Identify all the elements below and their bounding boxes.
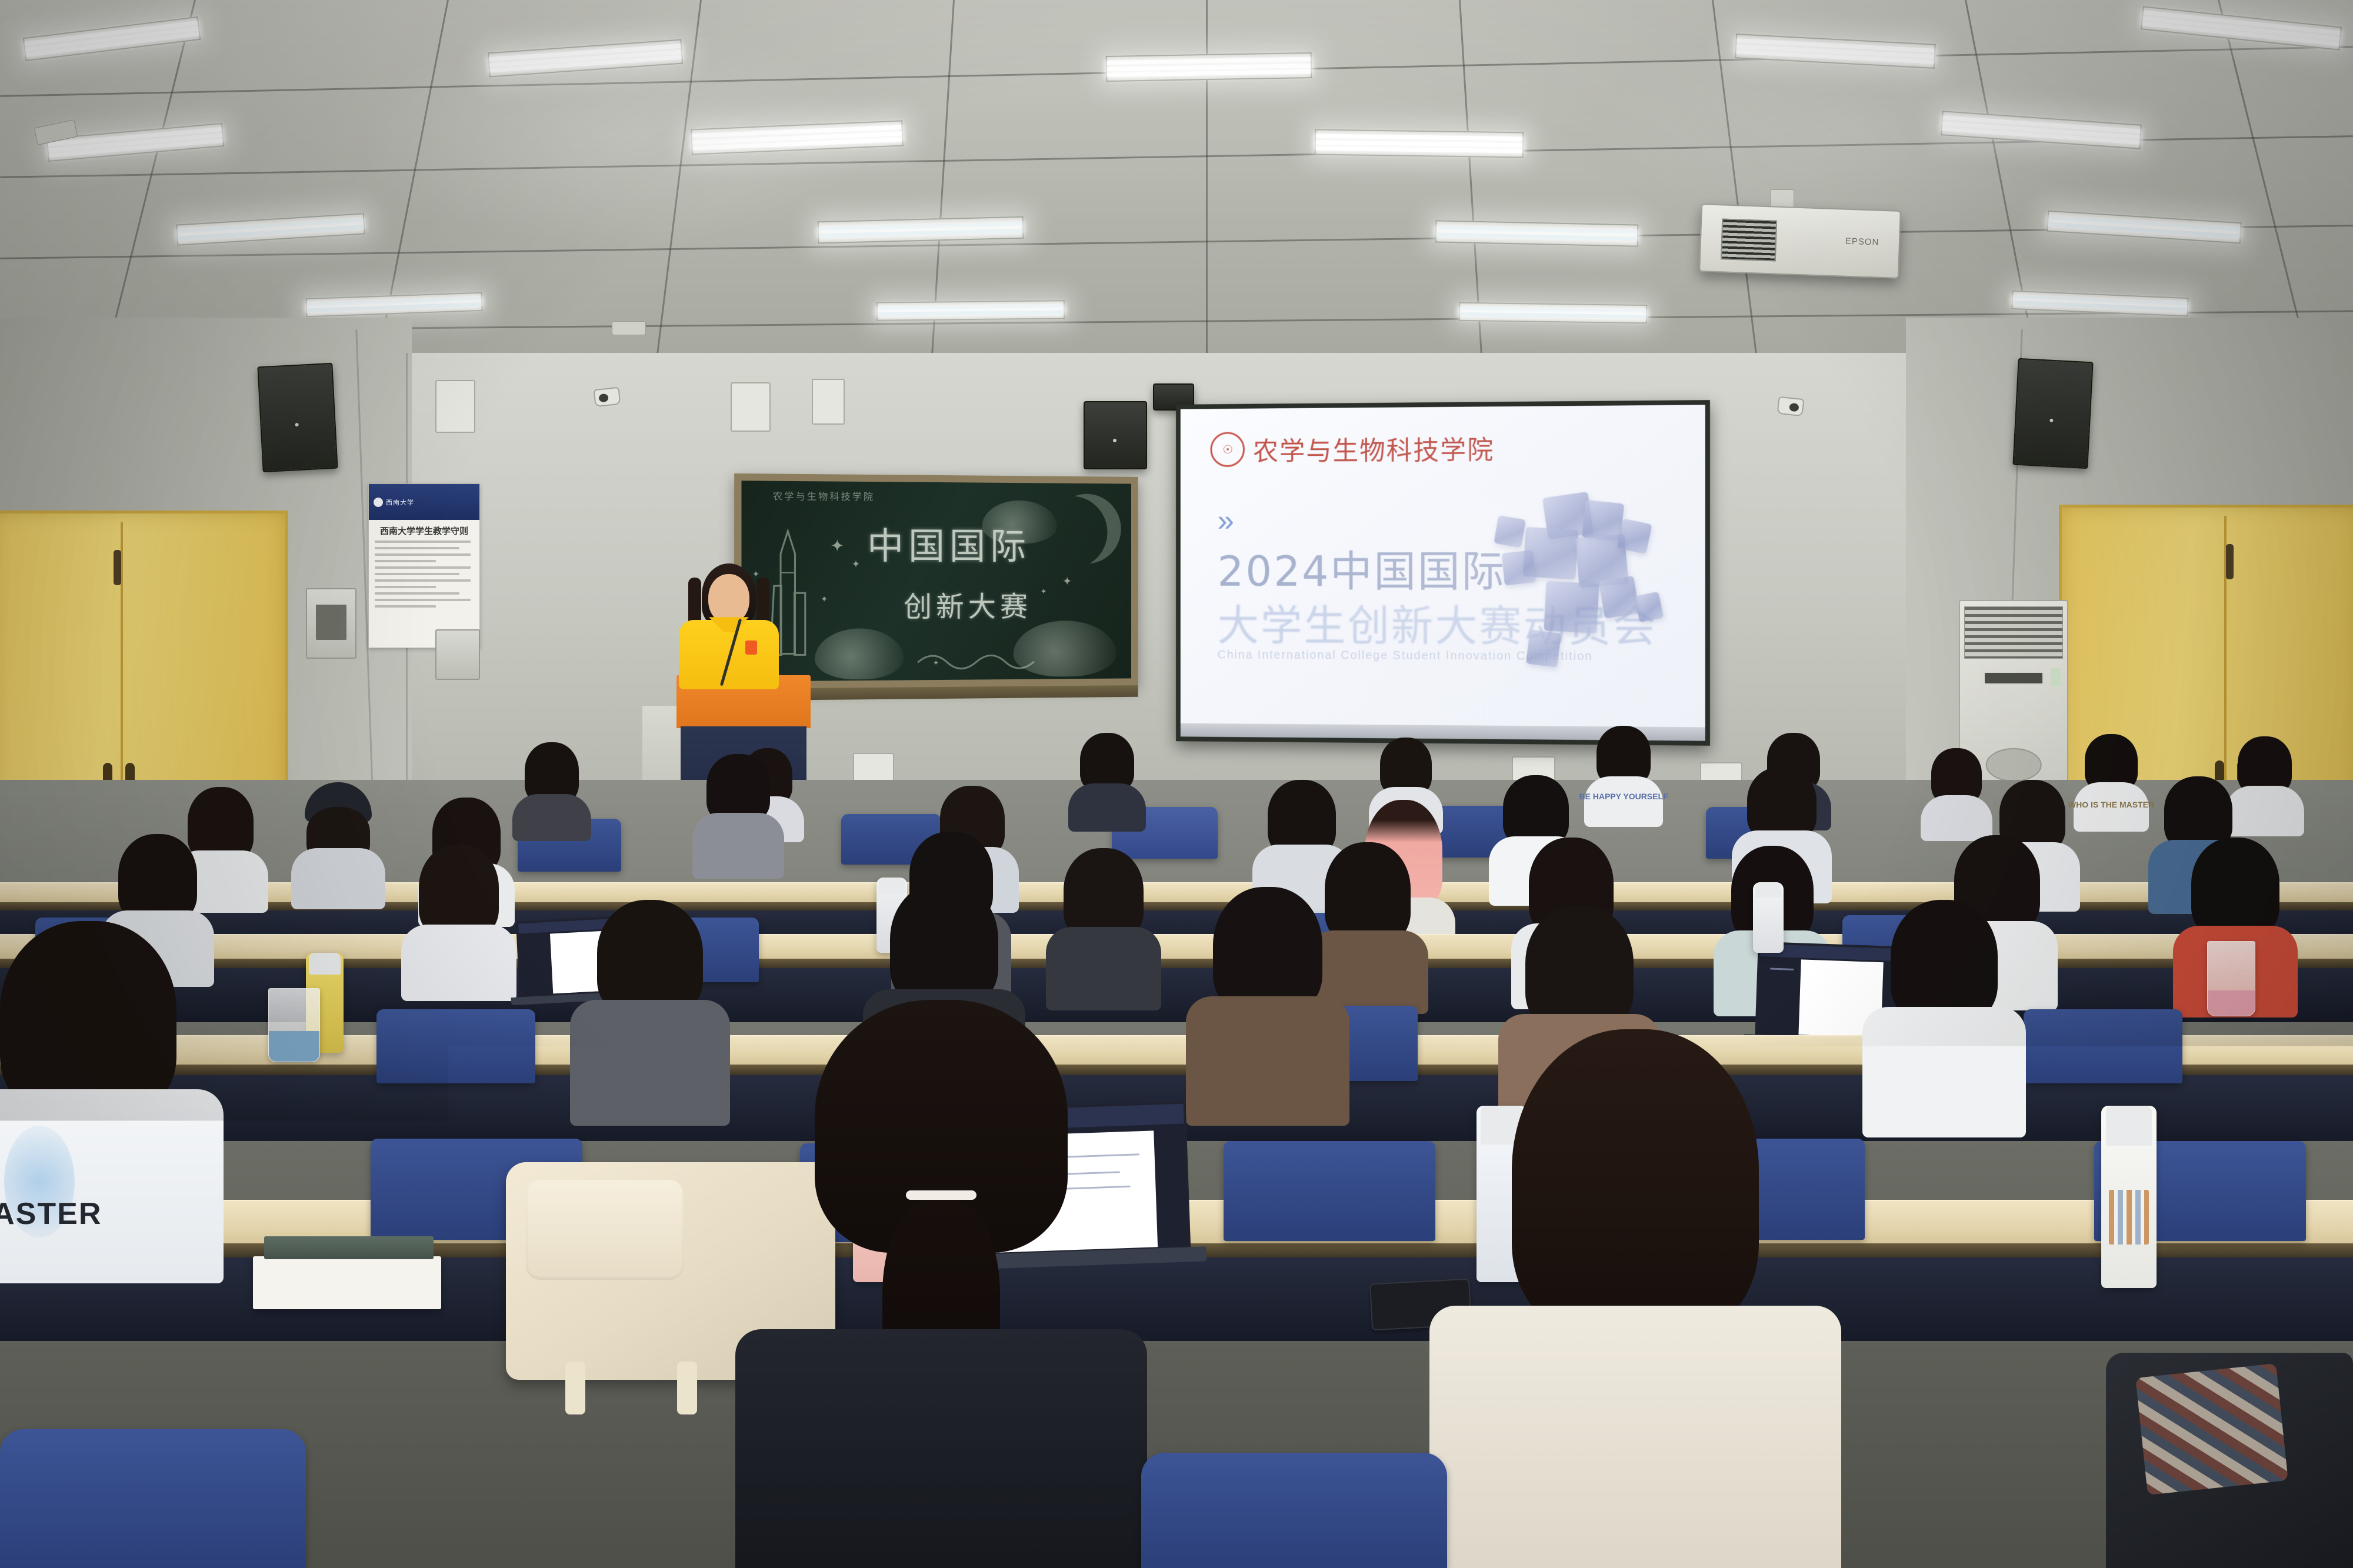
shirt-text: WHO IS THE MASTER [2068,800,2154,809]
hair [0,921,176,1115]
chalk-star-icon: ✦ [821,594,828,604]
chalk-star-icon: ✦ [1062,574,1072,589]
torso [692,813,784,879]
speaker-badge [745,640,757,655]
hair [2191,838,2279,938]
hair [1213,887,1322,1013]
torso [512,794,591,841]
hair [1503,775,1569,846]
slide-cube-artwork [1493,486,1669,678]
hair [1891,900,1998,1022]
ac-display-panel[interactable] [1984,672,2044,685]
hair [1525,906,1634,1030]
slide-org-text: 农学与生物科技学院 [1253,429,1494,468]
notice-header: 西南大学 [369,484,479,520]
wall-notice-board: 西南大学 西南大学学生教学守则 [368,483,480,648]
torso [1584,776,1663,827]
cup-liquid [269,1031,319,1062]
ac-grille [1964,606,2062,658]
chair[interactable] [2024,1009,2182,1083]
notebook-cover [264,1236,434,1260]
torso [1186,996,1349,1126]
drink-cup[interactable] [2207,941,2255,1016]
hair [706,754,770,822]
torso [1921,795,1992,841]
backpack-strap [565,1362,585,1414]
drink-cup[interactable] [268,988,320,1062]
wall-panel-left [435,629,480,680]
chevron-right-icon: » [1218,503,1231,538]
university-logo-icon [374,498,383,507]
wall-socket-left[interactable] [435,380,475,433]
hair [597,900,703,1015]
bottle-pattern [2109,1190,2149,1245]
torso [570,1000,730,1126]
lecture-hall-scene: EPSON 西南大学 西南大学学生教学守则 [0,0,2353,1568]
hair [890,882,998,1006]
ac-fan-outlet [1986,748,2042,782]
audience-member [576,900,724,1123]
control-box-face [316,605,346,640]
audience-member [1871,900,2018,1135]
chalk-star-icon: ✦ [830,536,844,555]
audience-member [516,742,587,830]
security-camera-left [594,387,621,407]
thermos-bottle-patterned[interactable] [2101,1106,2157,1288]
hair [419,845,499,938]
torso-dark-jacket [735,1329,1147,1568]
audience-member-with-cap [294,782,382,900]
audience-member: BE HAPPY YOURSELF [1588,726,1659,826]
wall-socket-center[interactable] [731,382,771,432]
projected-slide: ☉ 农学与生物科技学院 » 2024中国国际 大学生创新大赛动员会 China … [1181,405,1705,740]
fluorescent-tube-fixture [1459,302,1647,323]
hair [1747,767,1817,840]
ceiling-fan-mount [612,321,646,335]
wall-speaker-right [2012,358,2093,469]
audience-member [694,754,782,878]
security-camera-right [1777,396,1805,416]
chalk-star-icon: ✦ [933,659,939,667]
chalk-star-icon: ✦ [852,559,860,571]
audience-member-foreground-center [753,1000,1129,1568]
chalk-moon-icon [1052,493,1121,563]
bottle-cap [2106,1106,2152,1146]
chair[interactable] [376,1009,535,1083]
projector: EPSON [1699,203,1901,279]
hair [1597,726,1651,785]
notice-title: 西南大学学生教学守则 [369,525,479,537]
audience-member [1051,848,1156,1001]
projector-brand-label: EPSON [1845,236,1879,247]
chair[interactable] [1224,1141,1435,1241]
torso [1862,1007,2026,1137]
backpack-strap [677,1362,697,1414]
polo-collar [709,617,749,632]
cup-liquid [2208,990,2255,1016]
speaker-head [708,574,749,623]
door-hinge-icon [114,550,121,585]
torso-cream-jacket [1429,1306,1841,1568]
hair [1080,733,1134,792]
slide-title-line1: 2024中国国际 [1218,536,1506,598]
hair [1512,1029,1759,1335]
notebook-stack[interactable] [253,1256,441,1309]
blackboard-subhead: 创新大赛 [904,583,1032,625]
wall-speaker-left [257,363,338,472]
torso [1046,927,1161,1010]
backpack-front-pocket [526,1180,684,1280]
chalk-cloud-icon [982,500,1057,543]
bottle-cap [309,953,341,975]
audience-member [1194,887,1341,1122]
wall-socket-center2[interactable] [812,379,845,425]
ac-energy-badge [2051,668,2061,687]
audience-member [1072,733,1142,827]
torso [401,925,516,1001]
slide-content: ☉ 农学与生物科技学院 » 2024中国国际 大学生创新大赛动员会 China … [1201,418,1684,727]
bag-pattern [2135,1363,2288,1495]
bottle-cap [1755,882,1781,898]
fluorescent-tube-fixture [1435,220,1639,246]
audience-member [1924,748,1989,836]
projector-vent [1720,219,1777,262]
hair-tie [906,1190,976,1200]
shirt-text: BE HAPPY YOURSELF [1579,792,1668,801]
door-hinge-icon [2226,544,2234,579]
hair [118,834,197,922]
torso [291,848,385,909]
fluorescent-tube-fixture [1106,52,1312,82]
thermos-bottle[interactable] [1753,882,1784,953]
chair-foreground[interactable] [0,1429,306,1568]
chair-foreground[interactable] [1141,1453,1447,1568]
notice-body-lines [369,541,479,608]
torso [1068,783,1146,832]
audience-member-foreground-left: MASTER [0,921,212,1274]
audience-member: WHO IS THE MASTER [2077,734,2146,828]
wall-control-box[interactable] [306,588,356,659]
chalk-star-icon: ✦ [1041,587,1047,596]
projection-screen: ☉ 农学与生物科技学院 » 2024中国国际 大学生创新大赛动员会 China … [1176,400,1710,746]
audience-member [406,845,512,992]
slide-org-logo: ☉ 农学与生物科技学院 [1211,429,1495,468]
fluorescent-tube-fixture [1315,129,1524,158]
hair [1064,848,1144,940]
chalk-cloud-icon [815,628,904,679]
wall-speaker-center-left [1084,401,1147,469]
speaker-presenter [673,563,785,687]
blackboard-top-text: 农学与生物科技学院 [773,488,875,503]
college-seal-icon: ☉ [1211,432,1245,467]
shirt-text: MASTER [0,1196,102,1232]
notice-header-text: 西南大学 [386,498,414,507]
fluorescent-tube-fixture [876,300,1065,321]
audience-member-foreground-right [1447,1029,1824,1568]
blackboard-surface: 农学与生物科技学院 中国国际 创新大赛 ✦ ✦ ✦ ✦ ✦ ✦ [742,481,1132,681]
blackboard: 农学与生物科技学院 中国国际 创新大赛 ✦ ✦ ✦ ✦ ✦ ✦ [734,473,1138,689]
